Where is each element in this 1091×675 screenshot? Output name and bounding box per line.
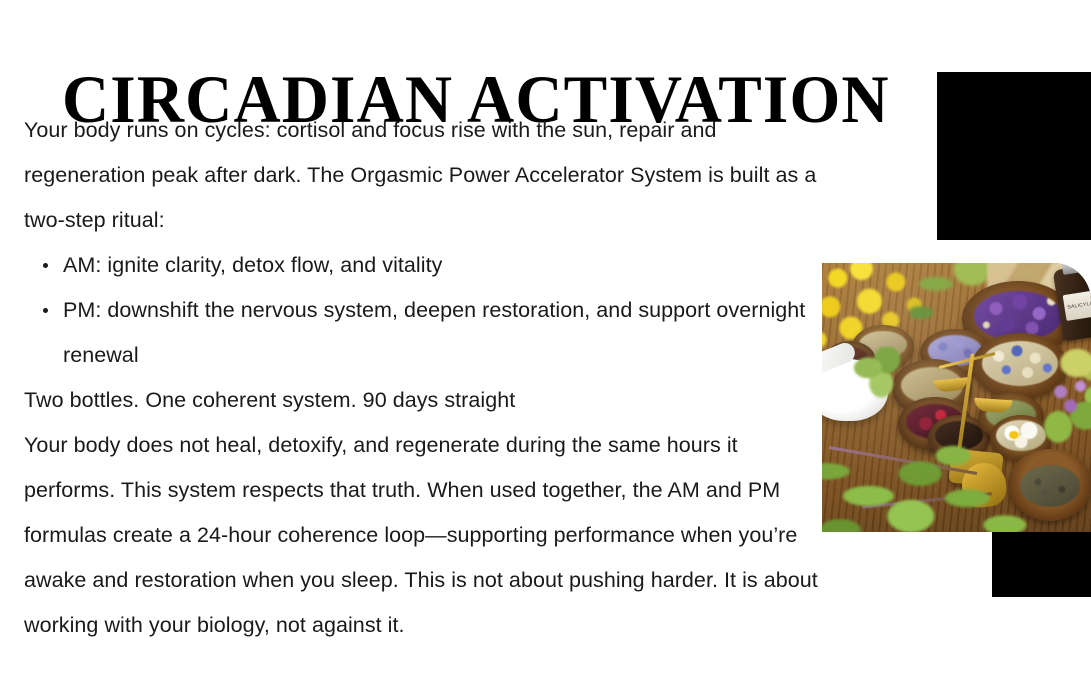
intro-paragraph: Your body runs on cycles: cortisol and f… (24, 108, 824, 243)
photo-light-sheen (822, 263, 1091, 532)
list-item: AM: ignite clarity, detox flow, and vita… (24, 243, 824, 288)
ritual-bullet-list: AM: ignite clarity, detox flow, and vita… (24, 243, 824, 378)
bullet-label: PM: downshift the nervous system, deepen… (63, 298, 805, 367)
bullet-dot-icon (43, 308, 48, 313)
tagline: Two bottles. One coherent system. 90 day… (24, 378, 824, 423)
slide-canvas: CIRCADIAN ACTIVATION Your body runs on c… (0, 0, 1091, 675)
list-item: PM: downshift the nervous system, deepen… (24, 288, 824, 378)
bullet-dot-icon (43, 263, 48, 268)
bullet-label: AM: ignite clarity, detox flow, and vita… (63, 253, 442, 277)
herbs-photo: SALICYLIC (822, 263, 1091, 532)
closing-paragraph: Your body does not heal, detoxify, and r… (24, 423, 824, 648)
photo-wooden-table-background: SALICYLIC (822, 263, 1091, 532)
body-content-column: Your body runs on cycles: cortisol and f… (24, 108, 824, 648)
decorative-black-block-top-right (937, 72, 1091, 240)
